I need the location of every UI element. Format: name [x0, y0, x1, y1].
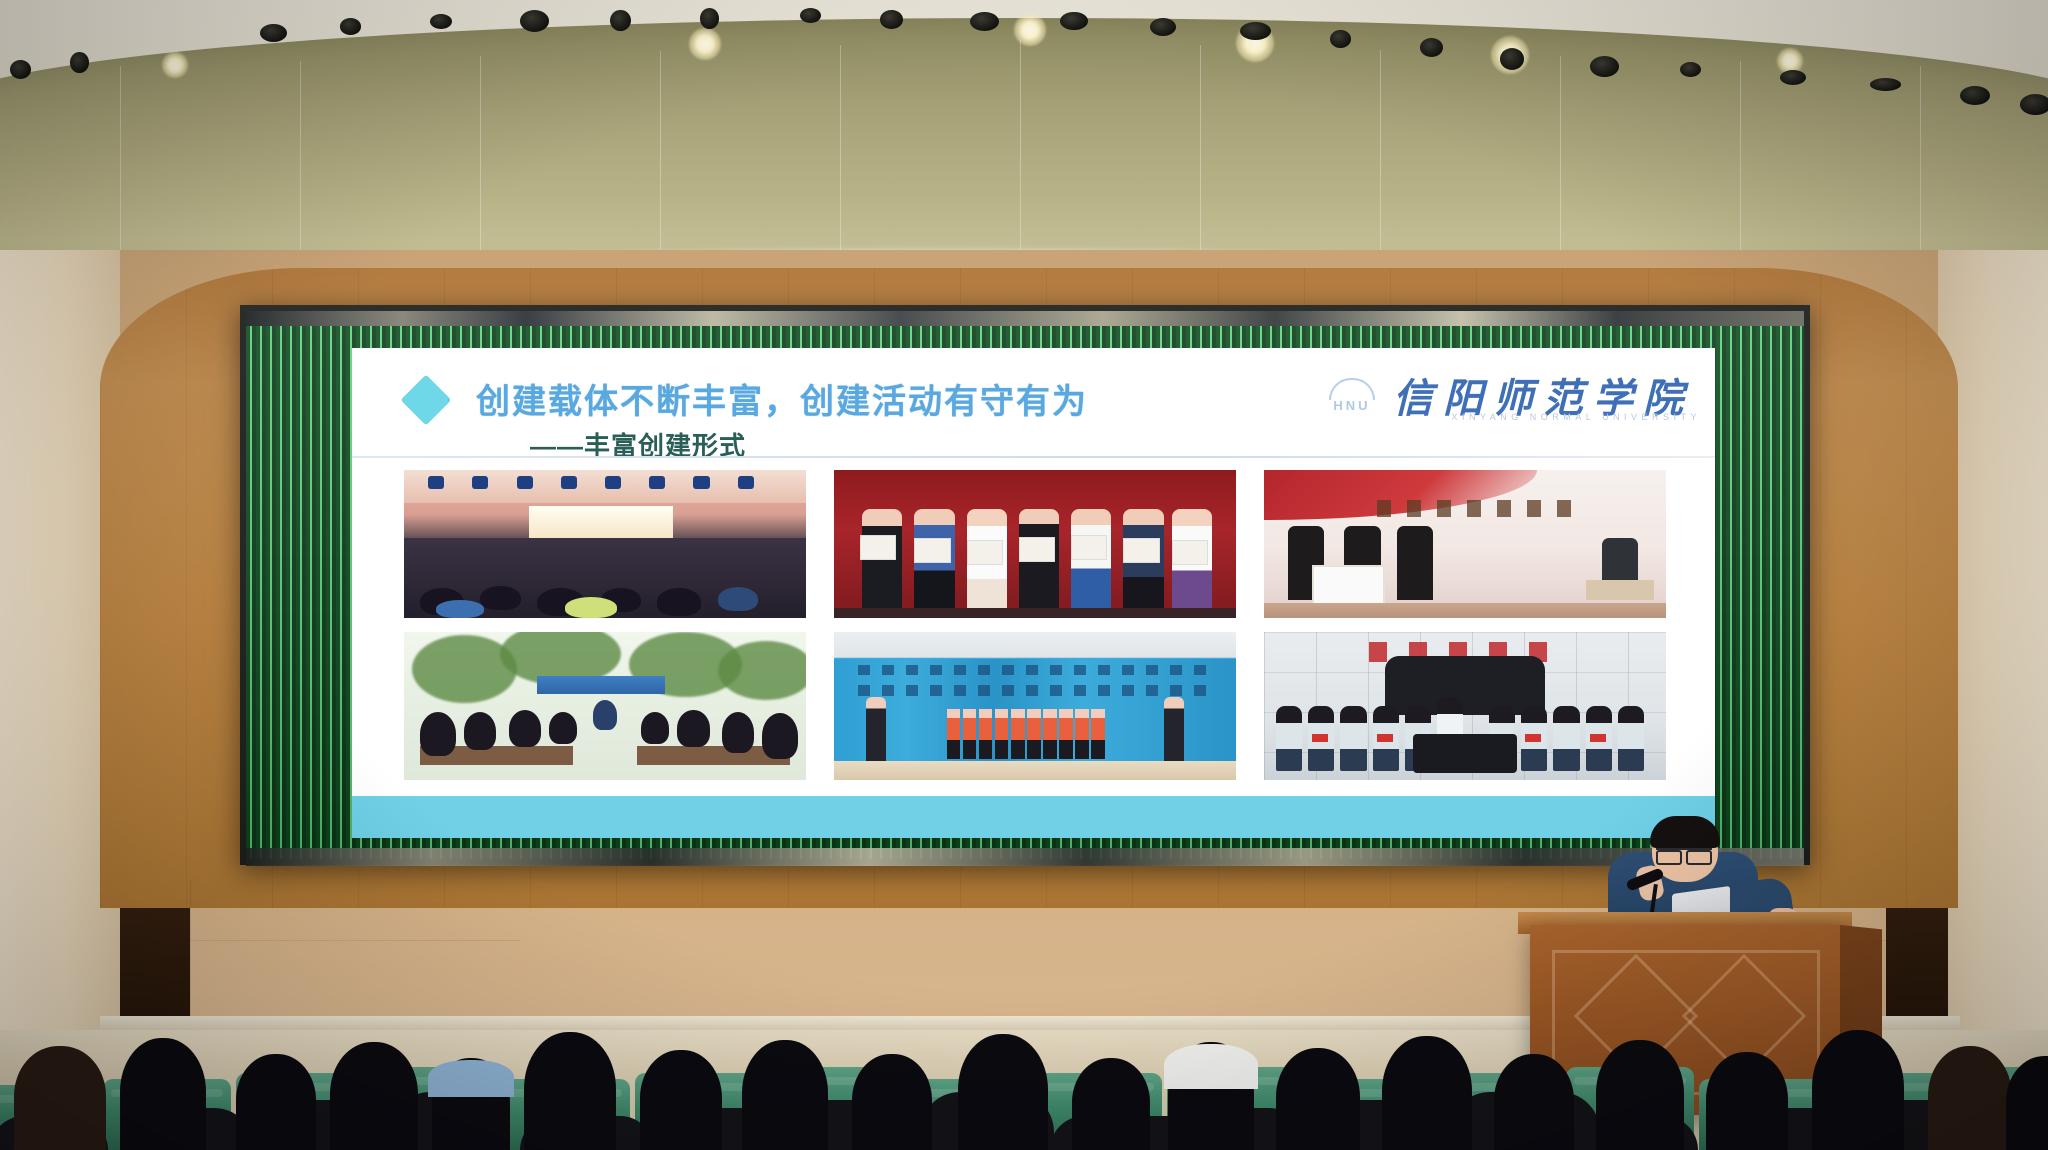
audience-area	[0, 950, 2048, 1150]
ceiling-recessed-hole	[610, 10, 631, 31]
ceiling-recessed-hole	[1240, 22, 1271, 40]
diamond-bullet-icon	[401, 375, 452, 426]
slide-photo-1	[404, 470, 806, 618]
ceiling-recessed-hole	[10, 60, 31, 79]
wall-seam	[190, 940, 520, 941]
audience-head	[1168, 1042, 1254, 1150]
slide-footer-bar	[352, 796, 1715, 838]
slide-photo-4	[404, 632, 806, 780]
ceiling-recessed-hole	[800, 8, 821, 23]
audience-head	[958, 1034, 1048, 1150]
glasses-icon	[1656, 848, 1712, 858]
led-bottom-reflection	[246, 848, 1804, 866]
photo6-statue	[1385, 656, 1546, 715]
slide-title: 创建载体不断丰富，创建活动有守有为	[476, 374, 1088, 423]
photo5-stage-floor	[834, 761, 1236, 780]
header-divider	[352, 456, 1715, 458]
photo5-host-left	[866, 697, 886, 768]
ceiling-recessed-hole	[70, 52, 89, 73]
ceiling-recessed-hole	[1330, 30, 1351, 48]
ceiling-recessed-hole	[880, 10, 903, 29]
slide-header: 创建载体不断丰富，创建活动有守有为 ——丰富创建形式 HNU 信阳师范学院 XI…	[352, 348, 1715, 460]
audience-head	[1812, 1030, 1904, 1150]
photo4-banner	[537, 676, 666, 694]
emblem-letters: HNU	[1325, 398, 1379, 413]
presentation-slide: 创建载体不断丰富，创建活动有守有为 ——丰富创建形式 HNU 信阳师范学院 XI…	[352, 348, 1715, 838]
slide-photo-3	[1264, 470, 1666, 618]
auditorium-scene: 创建载体不断丰富，创建活动有守有为 ——丰富创建形式 HNU 信阳师范学院 XI…	[0, 0, 2048, 1150]
photo3-stage-floor	[1264, 603, 1666, 618]
audience-head	[330, 1042, 418, 1150]
ceiling-recessed-hole	[1960, 86, 1990, 105]
ceiling-recessed-hole	[1500, 48, 1524, 70]
ceiling-suspension-wire	[1020, 40, 1021, 280]
slide-photo-grid	[404, 470, 1666, 780]
audience-head	[1928, 1046, 2012, 1150]
audience-head	[1382, 1036, 1472, 1150]
ceiling-recessed-hole	[340, 18, 361, 35]
photo5-banner-line-2	[858, 685, 1212, 695]
audience-head	[1276, 1048, 1360, 1150]
audience-head	[1072, 1058, 1150, 1150]
slide-photo-6	[1264, 632, 1666, 780]
ceiling-recessed-hole	[2020, 94, 2048, 115]
ceiling-recessed-hole	[1870, 78, 1901, 91]
ceiling-downlight	[162, 52, 188, 78]
audience-head	[236, 1054, 316, 1150]
audience-head	[640, 1050, 722, 1150]
audience-head	[432, 1058, 510, 1150]
photo1-audience	[404, 538, 806, 618]
emblem-arc	[1329, 378, 1375, 400]
ceiling-recessed-hole	[1590, 56, 1619, 77]
photo2-stage-edge	[834, 608, 1236, 618]
audience-head	[742, 1040, 828, 1150]
audience-head	[1494, 1054, 1574, 1150]
speaker-hair	[1650, 816, 1720, 848]
photo3-banner-text	[1377, 500, 1578, 518]
audience-head	[1706, 1052, 1788, 1150]
university-emblem-icon: HNU	[1325, 372, 1379, 418]
photo5-host-right	[1164, 697, 1184, 768]
audience-head	[1596, 1040, 1684, 1150]
university-name-en: XINYANG NORMAL UNIVERSITY	[1451, 412, 1701, 422]
audience-head	[852, 1054, 932, 1150]
ceiling-recessed-hole	[1420, 38, 1443, 57]
slide-photo-5	[834, 632, 1236, 780]
ceiling-recessed-hole	[520, 10, 549, 32]
slide-photo-2	[834, 470, 1236, 618]
photo5-banner-line-1	[858, 665, 1212, 675]
ceiling-recessed-hole	[1060, 12, 1088, 30]
audience-head	[14, 1046, 106, 1150]
ceiling-recessed-hole	[700, 8, 719, 29]
photo6-round-table	[1413, 734, 1518, 772]
audience-head	[524, 1032, 616, 1150]
photo1-stage-screen	[529, 506, 674, 539]
audience-head	[120, 1038, 206, 1150]
